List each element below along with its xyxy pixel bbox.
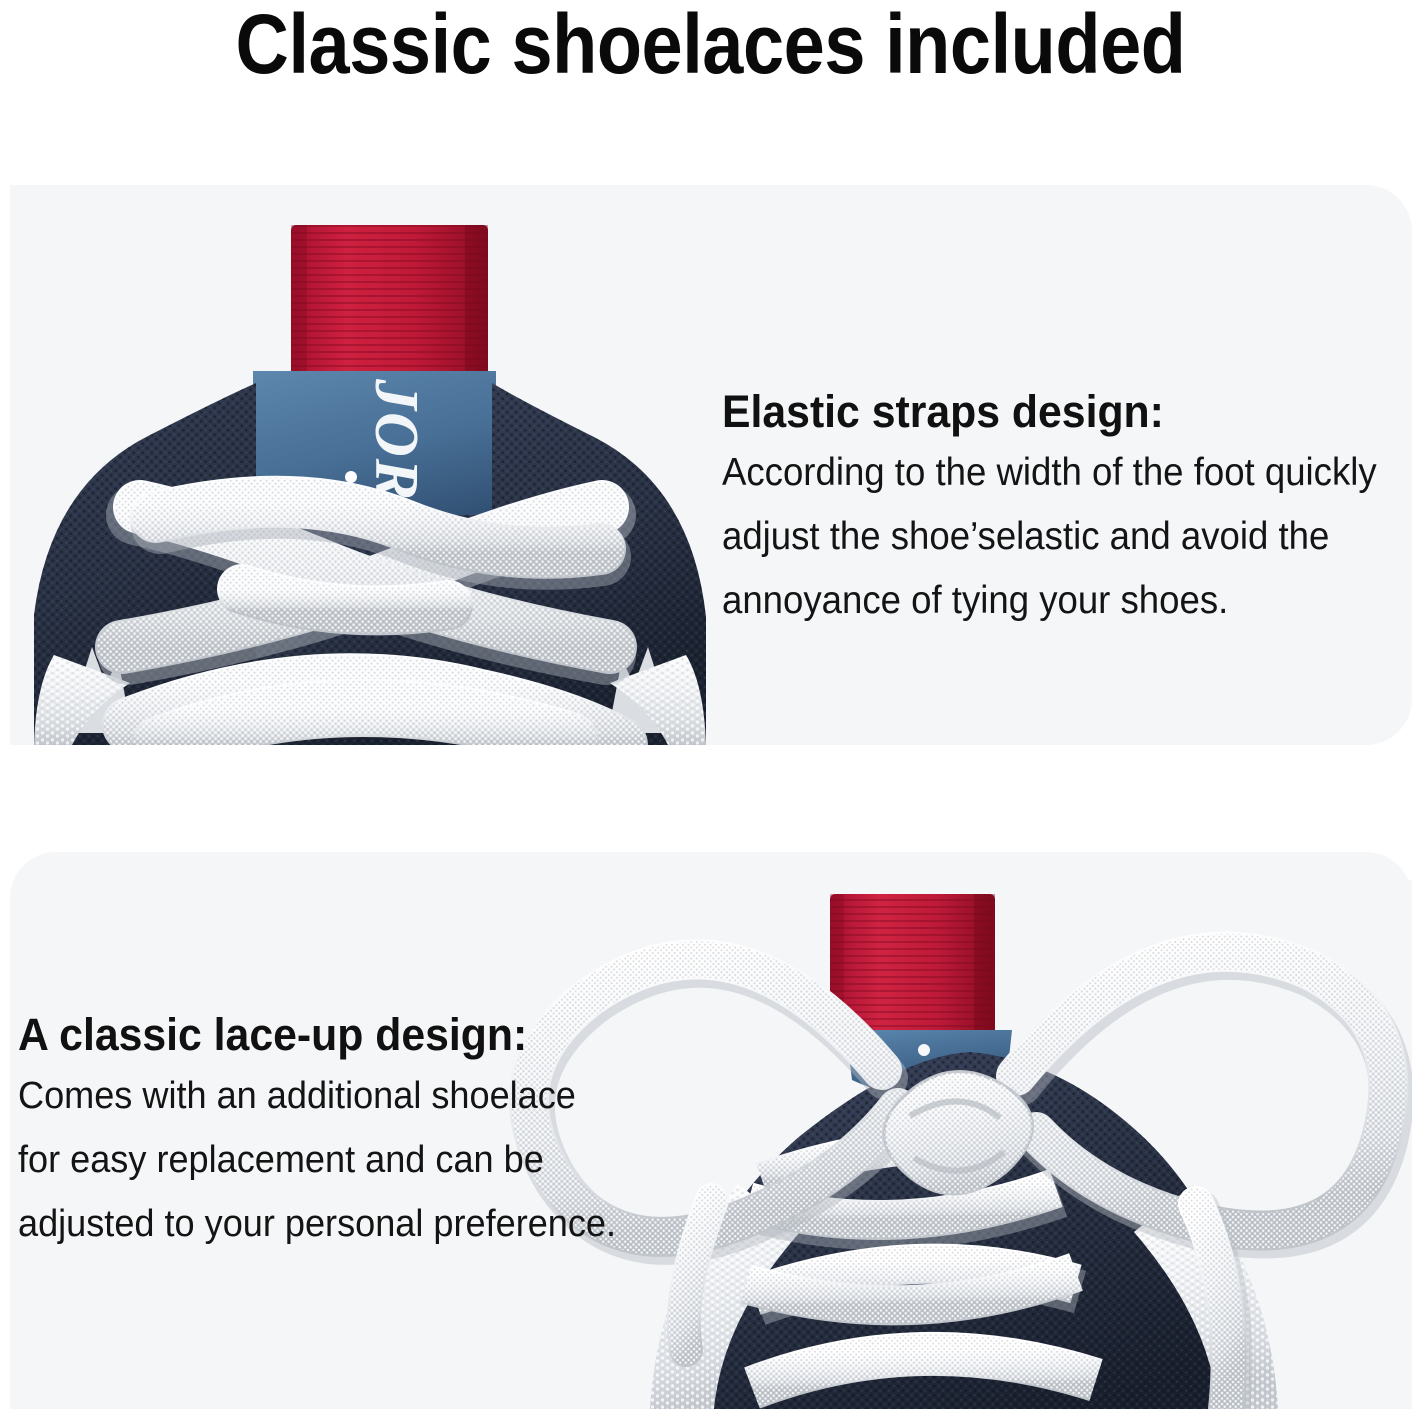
- page-title: Classic shoelaces included: [85, 0, 1335, 90]
- section-body-line: According to the width of the foot quick…: [722, 441, 1387, 505]
- svg-text:JOR: JOR: [362, 378, 430, 502]
- section-body-line: adjusted to your personal preference.: [18, 1192, 607, 1256]
- section-body-line: annoyance of tying your shoes.: [722, 569, 1387, 633]
- section-heading: A classic lace-up design:: [18, 1006, 607, 1064]
- section-body-line: for easy replacement and can be: [18, 1128, 607, 1192]
- feature-text-lace-up: A classic lace-up design: Comes with an …: [18, 1006, 638, 1256]
- sneaker-elastic-laces-photo: JOR: [10, 185, 730, 745]
- section-body-line: Comes with an additional shoelace: [18, 1064, 607, 1128]
- red-heel-pull-tab: [291, 225, 488, 377]
- white-elastic-laces: [122, 502, 620, 745]
- section-heading: Elastic straps design:: [722, 383, 1387, 441]
- section-body-line: adjust the shoe’selastic and avoid the: [722, 505, 1387, 569]
- feature-text-elastic-straps: Elastic straps design: According to the …: [722, 383, 1421, 633]
- product-infographic: Classic shoelaces included: [0, 0, 1421, 1409]
